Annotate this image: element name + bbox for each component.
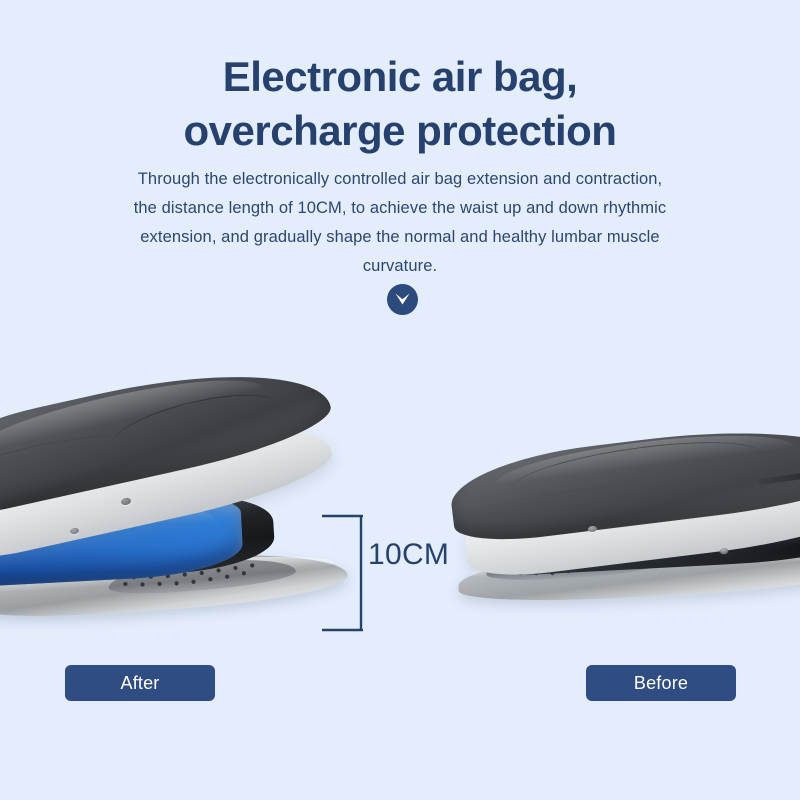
dimension-label: 10CM: [368, 538, 449, 572]
product-feature-page: Electronic air bag, overcharge protectio…: [0, 0, 800, 800]
page-description-line-3: extension, and gradually shape the norma…: [48, 223, 752, 252]
after-state-button[interactable]: After: [65, 665, 215, 701]
scroll-down-badge[interactable]: [387, 284, 418, 315]
page-description: Through the electronically controlled ai…: [48, 165, 752, 281]
page-description-line-1: Through the electronically controlled ai…: [48, 165, 752, 194]
before-state-button[interactable]: Before: [586, 665, 736, 701]
hero-section: Electronic air bag, overcharge protectio…: [0, 0, 800, 330]
page-title-line-2: overcharge protection: [0, 104, 800, 158]
page-description-line-2: the distance length of 10CM, to achieve …: [48, 194, 752, 223]
product-comparison-stage: [0, 330, 800, 660]
page-title: Electronic air bag, overcharge protectio…: [0, 50, 800, 158]
chevron-down-icon: [394, 292, 411, 307]
product-device-after: [0, 350, 390, 640]
page-description-line-4: curvature.: [48, 252, 752, 281]
product-device-before: [440, 408, 800, 638]
page-title-line-1: Electronic air bag,: [0, 50, 800, 104]
